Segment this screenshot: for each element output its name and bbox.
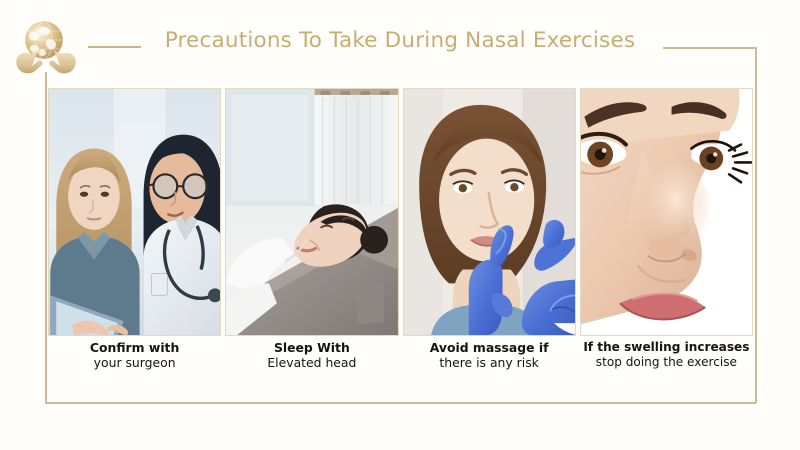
caption-4: If the swelling increases stop doing the… [580, 341, 753, 370]
frame-border-top-right [663, 47, 756, 49]
panel-4-image [580, 88, 753, 336]
frame-border-bottom [45, 402, 756, 404]
caption-1: Confirm with your surgeon [48, 341, 221, 370]
swollen-nose-closeup-photo [581, 89, 752, 335]
caption-2: Sleep With Elevated head [225, 341, 398, 370]
caption-2-line2: Elevated head [225, 356, 398, 370]
panel-image-row [48, 88, 753, 336]
panel-2-image [225, 88, 398, 336]
caption-3: Avoid massage if there is any risk [403, 341, 576, 370]
caption-2-line1: Sleep With [225, 341, 398, 355]
frame-border-right [755, 47, 757, 403]
globe-in-hands-logo [8, 16, 84, 78]
infographic-canvas: Precautions To Take During Nasal Exercis… [0, 0, 800, 450]
doctor-consultation-photo [49, 89, 220, 335]
caption-4-line2: stop doing the exercise [580, 356, 753, 370]
caption-3-line2: there is any risk [403, 356, 576, 370]
caption-1-line1: Confirm with [48, 341, 221, 355]
panel-3-image [403, 88, 576, 336]
caption-3-line1: Avoid massage if [403, 341, 576, 355]
caption-1-line2: your surgeon [48, 356, 221, 370]
frame-border-left [45, 72, 47, 403]
caption-row: Confirm with your surgeon Sleep With Ele… [48, 341, 753, 370]
panel-1-image [48, 88, 221, 336]
elevated-head-sleeping-photo [226, 89, 397, 335]
caption-4-line1: If the swelling increases [580, 341, 753, 355]
title-divider-rule [88, 46, 141, 48]
page-title: Precautions To Take During Nasal Exercis… [150, 28, 650, 53]
gloved-nose-examination-photo [404, 89, 575, 335]
